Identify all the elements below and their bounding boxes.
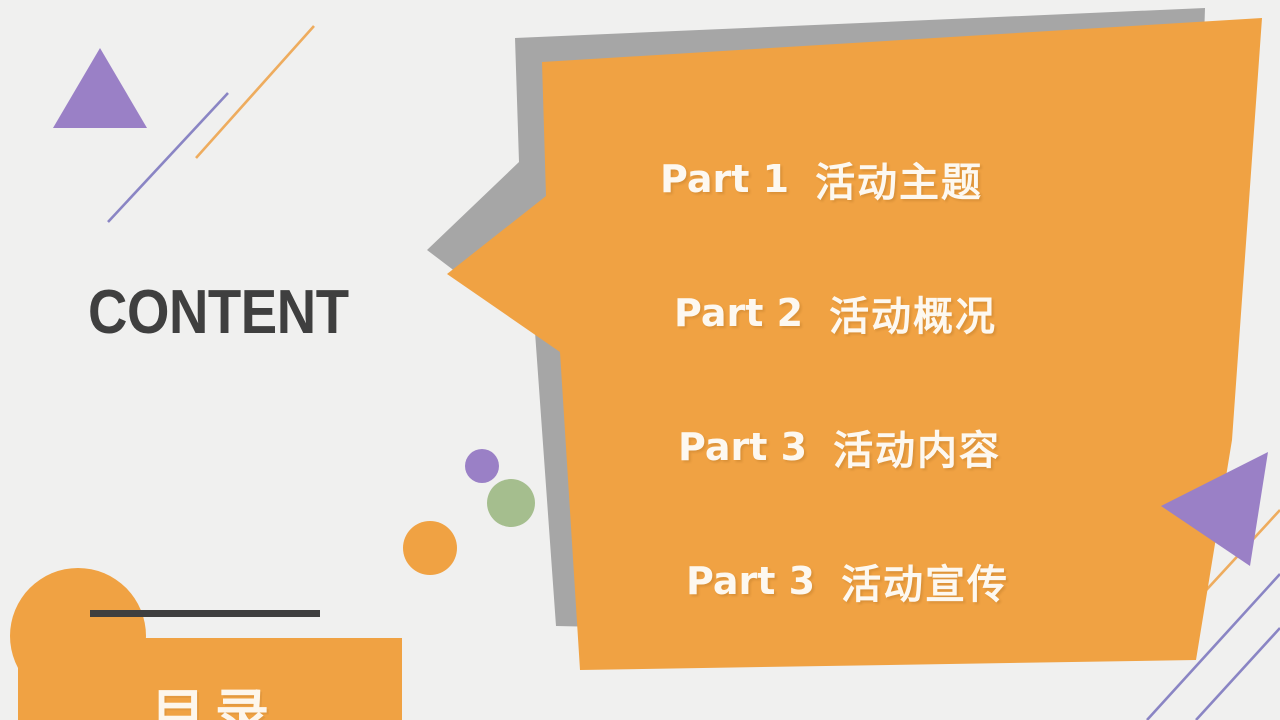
agenda-panel-shape bbox=[0, 0, 1280, 720]
slide-canvas: CONTENT 目录 Part 1 活动主题 Part 2 活动概况 Part … bbox=[0, 0, 1280, 720]
